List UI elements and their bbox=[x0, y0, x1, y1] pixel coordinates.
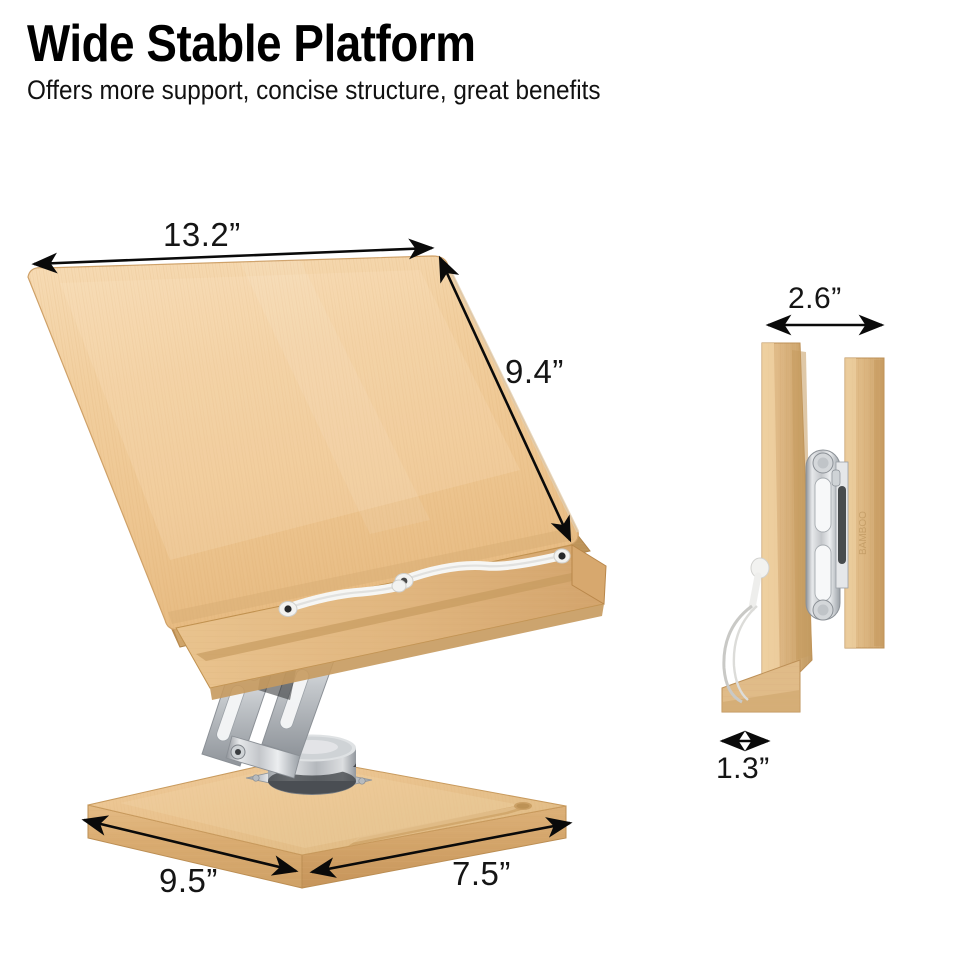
dimension-label-base-left-depth: 9.5” bbox=[159, 862, 218, 900]
dimension-label-ledge-depth: 1.3” bbox=[716, 752, 770, 786]
product-illustration: BAMBOO bbox=[0, 0, 960, 960]
side-page-clip bbox=[724, 558, 769, 702]
side-profile-view: BAMBOO bbox=[722, 343, 884, 712]
dimension-label-height-board: 9.4” bbox=[505, 353, 564, 391]
svg-text:BAMBOO: BAMBOO bbox=[858, 511, 869, 555]
dimension-label-folded-thickness: 2.6” bbox=[788, 282, 842, 316]
page-title: Wide Stable Platform bbox=[27, 18, 819, 71]
reading-platform-board bbox=[28, 256, 606, 700]
dimension-label-width-top: 13.2” bbox=[163, 216, 241, 254]
swivel-disc bbox=[268, 735, 356, 796]
page-subtitle: Offers more support, concise structure, … bbox=[27, 75, 837, 106]
page-clip-right bbox=[395, 549, 570, 589]
support-arm-mechanism bbox=[202, 640, 336, 778]
dimension-label-base-right-depth: 7.5” bbox=[452, 855, 511, 893]
infographic-canvas: Wide Stable Platform Offers more support… bbox=[0, 0, 960, 960]
side-support-arm bbox=[806, 450, 848, 620]
header-block: Wide Stable Platform Offers more support… bbox=[27, 18, 927, 106]
page-clip-left bbox=[279, 580, 406, 617]
